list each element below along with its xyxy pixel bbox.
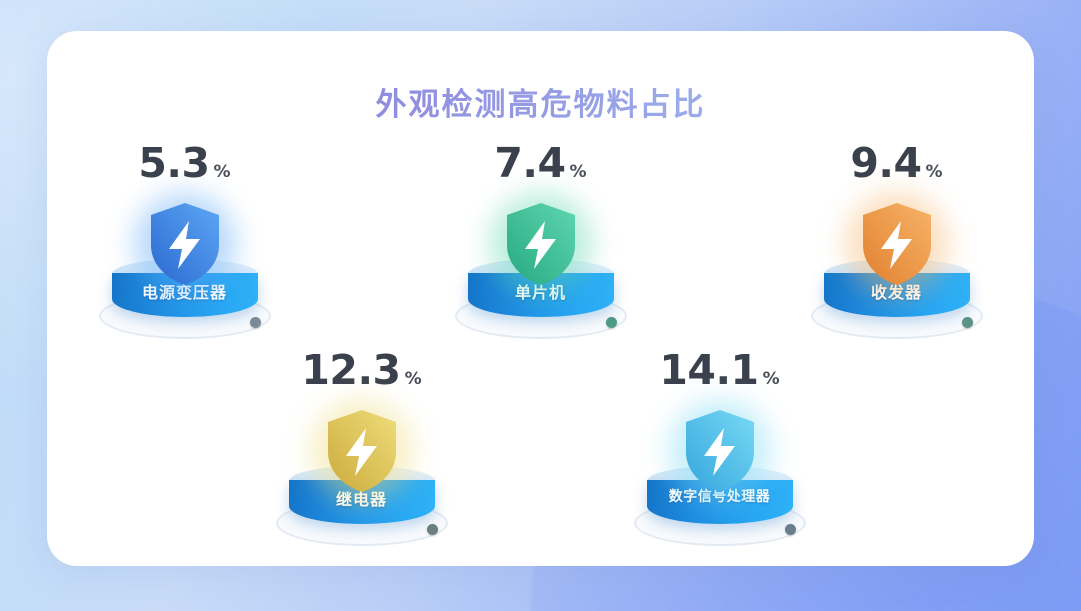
items-row-2: 12.3 % 继电器 [47, 350, 1034, 565]
metric-value-group: 9.4 % [850, 143, 942, 189]
podium: 单片机 [432, 193, 650, 351]
shield-lightning-glyph [324, 408, 400, 494]
percent-sign: % [926, 162, 943, 182]
percent-sign: % [570, 162, 587, 182]
podium: 电源变压器 [76, 193, 294, 351]
shield-lightning-glyph [503, 201, 579, 287]
shield-lightning-glyph [147, 201, 223, 287]
metric-value: 14.1 [659, 350, 758, 391]
metric-item-dsp[interactable]: 14.1 % 数字信号处理器 [611, 350, 829, 565]
percent-sign: % [214, 162, 231, 182]
metric-value-group: 14.1 % [659, 350, 779, 396]
infographic-root: 外观检测高危物料占比 5.3 % [0, 0, 1081, 611]
items-row-1: 5.3 % 电源变压器 [47, 143, 1034, 358]
metric-value: 9.4 [850, 143, 921, 184]
shield-lightning-icon [859, 201, 935, 287]
metric-value: 5.3 [138, 143, 209, 184]
shield-lightning-icon [503, 201, 579, 287]
metric-item-transceiver[interactable]: 9.4 % 收发器 [788, 143, 1006, 358]
metric-value: 12.3 [301, 350, 400, 391]
shield-lightning-icon [147, 201, 223, 287]
metric-item-mcu[interactable]: 7.4 % 单片机 [432, 143, 650, 358]
metric-value-group: 5.3 % [138, 143, 230, 189]
podium: 数字信号处理器 [611, 400, 829, 558]
podium: 收发器 [788, 193, 1006, 351]
content-card: 外观检测高危物料占比 5.3 % [47, 31, 1034, 566]
percent-sign: % [405, 369, 422, 389]
metric-item-power-transformer[interactable]: 5.3 % 电源变压器 [76, 143, 294, 358]
items-grid: 5.3 % 电源变压器 [47, 143, 1034, 565]
percent-sign: % [763, 369, 780, 389]
shield-lightning-glyph [859, 201, 935, 287]
shield-lightning-icon [324, 408, 400, 494]
podium: 继电器 [253, 400, 471, 558]
metric-value-group: 7.4 % [494, 143, 586, 189]
metric-value-group: 12.3 % [301, 350, 421, 396]
shield-lightning-icon [682, 408, 758, 494]
metric-item-relay[interactable]: 12.3 % 继电器 [253, 350, 471, 565]
metric-value: 7.4 [494, 143, 565, 184]
page-title: 外观检测高危物料占比 [47, 79, 1034, 124]
shield-lightning-glyph [682, 408, 758, 494]
